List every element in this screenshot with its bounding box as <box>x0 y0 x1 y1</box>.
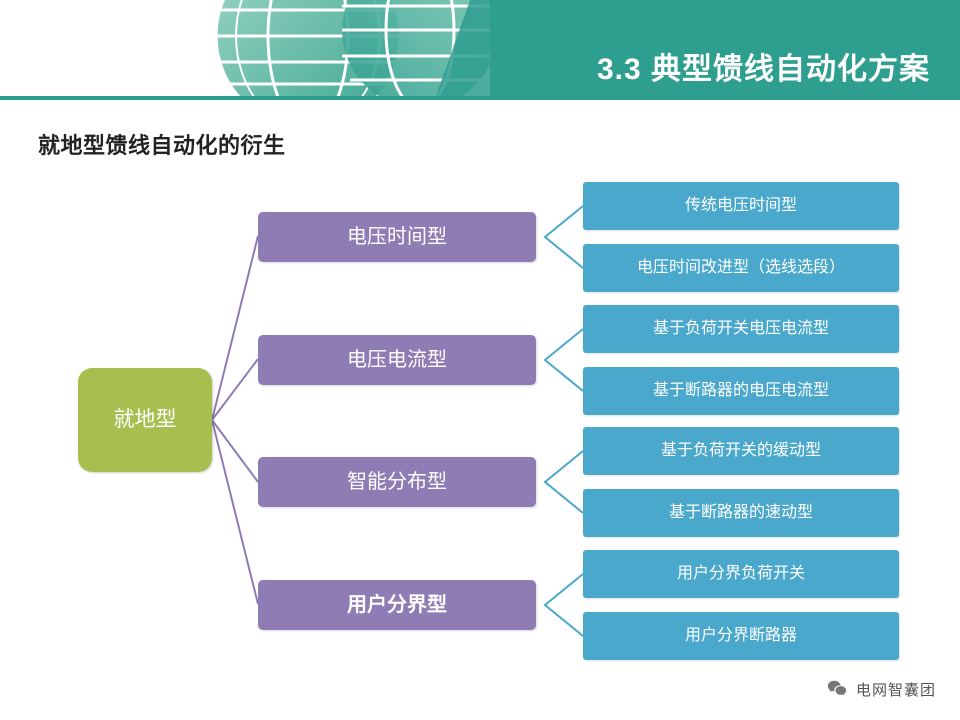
node-branch-2[interactable]: 电压电流型 <box>258 335 536 385</box>
slide: 3.3 典型馈线自动化方案 就地型馈线自动化的衍生 就地型 <box>0 0 960 720</box>
node-leaf-1-2[interactable]: 电压时间改进型（选线选段） <box>583 244 899 292</box>
tree-diagram: 就地型 电压时间型 传统电压时间型 电压时间改进型（选线选段） 电压电流型 基于… <box>0 0 960 720</box>
node-leaf-2-2[interactable]: 基于断路器的电压电流型 <box>583 367 899 415</box>
node-leaf-2-1-label: 基于负荷开关电压电流型 <box>653 319 829 339</box>
node-leaf-3-1-label: 基于负荷开关的缓动型 <box>661 441 821 461</box>
node-leaf-4-1[interactable]: 用户分界负荷开关 <box>583 550 899 598</box>
node-branch-2-label: 电压电流型 <box>347 348 447 373</box>
node-leaf-4-2[interactable]: 用户分界断路器 <box>583 612 899 660</box>
watermark: 电网智囊团 <box>826 678 936 700</box>
node-branch-4[interactable]: 用户分界型 <box>258 580 536 630</box>
node-root[interactable]: 就地型 <box>78 368 212 472</box>
node-leaf-3-2[interactable]: 基于断路器的速动型 <box>583 489 899 537</box>
node-leaf-3-2-label: 基于断路器的速动型 <box>669 503 813 523</box>
node-leaf-2-1[interactable]: 基于负荷开关电压电流型 <box>583 305 899 353</box>
node-leaf-1-2-label: 电压时间改进型（选线选段） <box>637 258 845 278</box>
node-leaf-2-2-label: 基于断路器的电压电流型 <box>653 381 829 401</box>
watermark-text: 电网智囊团 <box>856 679 936 700</box>
node-branch-4-label: 用户分界型 <box>347 593 447 618</box>
node-leaf-1-1[interactable]: 传统电压时间型 <box>583 182 899 230</box>
node-branch-1[interactable]: 电压时间型 <box>258 212 536 262</box>
node-leaf-3-1[interactable]: 基于负荷开关的缓动型 <box>583 427 899 475</box>
node-leaf-1-1-label: 传统电压时间型 <box>685 196 797 216</box>
node-branch-3[interactable]: 智能分布型 <box>258 457 536 507</box>
node-branch-1-label: 电压时间型 <box>347 225 447 250</box>
node-leaf-4-1-label: 用户分界负荷开关 <box>677 564 805 584</box>
node-root-label: 就地型 <box>114 407 177 433</box>
node-leaf-4-2-label: 用户分界断路器 <box>685 626 797 646</box>
wechat-icon <box>826 678 848 700</box>
node-branch-3-label: 智能分布型 <box>347 470 447 495</box>
